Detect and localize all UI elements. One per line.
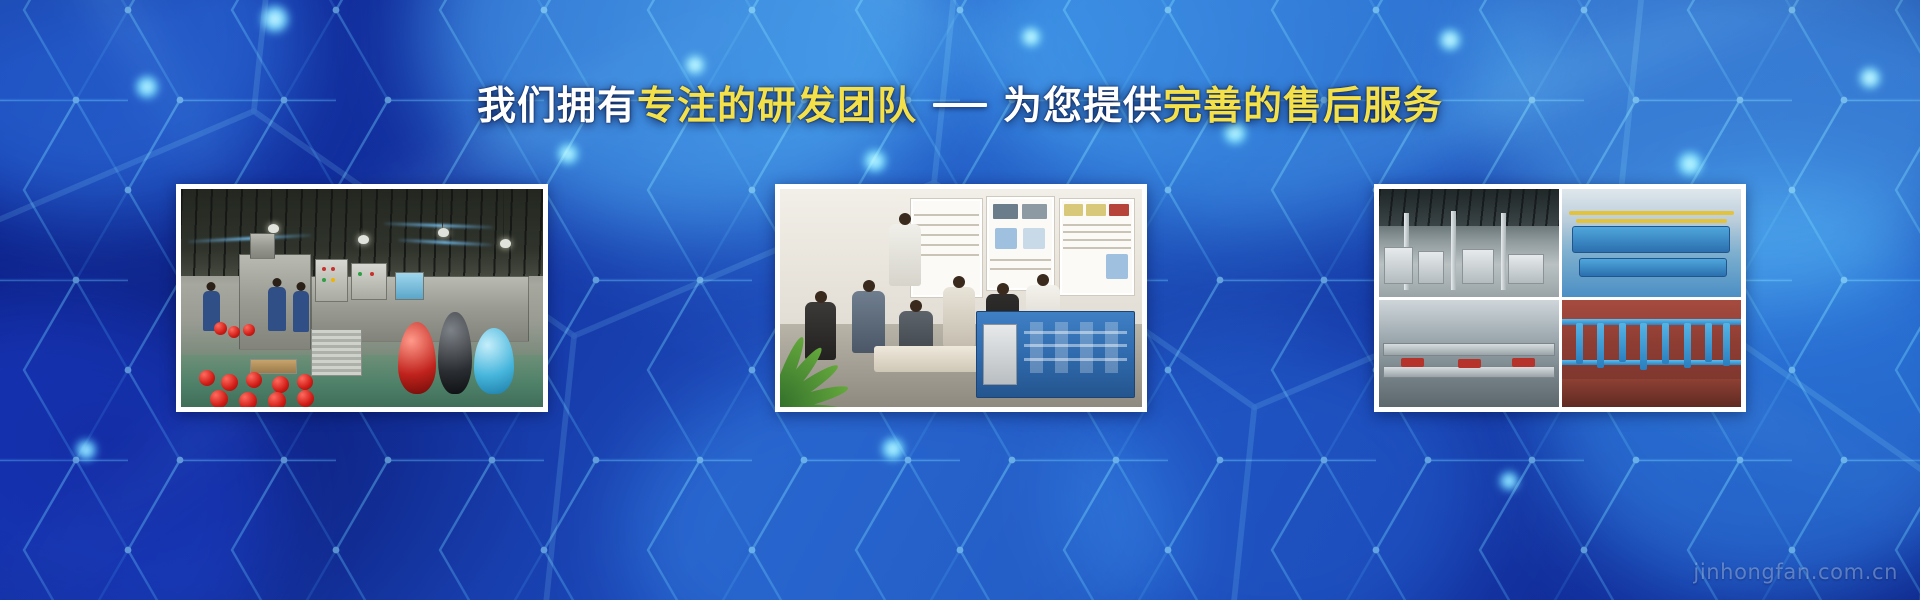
red-sphere-9 xyxy=(210,390,228,407)
collage-cell-hanging-line xyxy=(1562,300,1742,408)
ceiling-lamp-3 xyxy=(438,228,449,237)
yellow-pipe-2 xyxy=(1576,219,1727,223)
red-trolley-1 xyxy=(1401,358,1424,368)
blue-hanger-4 xyxy=(1640,323,1647,370)
red-sphere-1 xyxy=(214,322,227,335)
duct-stack xyxy=(250,233,275,259)
blue-duct-lower xyxy=(1579,258,1726,277)
blue-hanger-5 xyxy=(1662,323,1669,364)
site-watermark: jinhongfan.com.cn xyxy=(1693,560,1898,584)
potted-plant xyxy=(780,311,883,407)
lamp-wire-1 xyxy=(272,189,273,226)
wall-poster-1 xyxy=(910,198,982,298)
red-sphere-10 xyxy=(239,392,257,407)
white-tank-3 xyxy=(1462,249,1494,283)
ceiling-lamp-2 xyxy=(358,235,369,244)
control-panel-2 xyxy=(351,263,387,300)
storage-crate xyxy=(311,329,362,377)
white-tank-4 xyxy=(1508,254,1544,284)
blue-hanger-7 xyxy=(1705,323,1712,362)
blue-equipment-inset xyxy=(976,311,1135,398)
red-sphere-3 xyxy=(243,324,255,336)
wall-poster-3 xyxy=(1059,198,1135,296)
red-sphere-12 xyxy=(297,390,314,407)
worker-3 xyxy=(293,291,309,332)
workshop-ground xyxy=(1562,379,1742,407)
blue-hanger-2 xyxy=(1597,323,1604,368)
collage-cell-workshop-interior xyxy=(1379,189,1559,297)
photo-frame-factory-production-line[interactable] xyxy=(176,184,548,412)
conveyor-rail-upper xyxy=(1383,343,1555,357)
headline-part-2-highlight: 专注的研发团队 xyxy=(637,85,917,128)
photo-frame-team-meeting[interactable] xyxy=(775,184,1147,412)
blue-hanger-8 xyxy=(1723,323,1730,366)
red-trolley-3 xyxy=(1512,358,1535,368)
headline-part-3: 为您提供 xyxy=(1003,85,1163,128)
lamp-wire-4 xyxy=(503,189,504,241)
blue-hanger-3 xyxy=(1619,323,1626,362)
worker-2 xyxy=(268,287,286,331)
ceiling-lamp-1 xyxy=(268,224,279,233)
headline-part-4-highlight: 完善的售后服务 xyxy=(1163,85,1443,128)
headline-divider-dash xyxy=(933,103,987,107)
control-panel-1 xyxy=(315,259,348,303)
red-sphere-11 xyxy=(268,392,286,407)
blue-hanger-1 xyxy=(1576,323,1583,364)
support-column-3 xyxy=(1501,213,1506,290)
person-seated-4 xyxy=(943,287,975,347)
blue-duct-main xyxy=(1572,226,1730,254)
headline-part-1: 我们拥有 xyxy=(477,85,637,128)
support-column-2 xyxy=(1451,211,1456,291)
display-screen xyxy=(395,272,424,300)
photo-2-team-meeting-discussion xyxy=(780,189,1142,407)
photo-gallery-row xyxy=(176,184,1746,412)
collage-cell-blue-ducting xyxy=(1562,189,1742,297)
page-title: 我们拥有专注的研发团队为您提供完善的售后服务 xyxy=(0,84,1920,130)
white-tank-2 xyxy=(1418,251,1443,283)
photo-1-factory-production-line xyxy=(181,189,543,407)
red-trolley-2 xyxy=(1458,359,1481,369)
lamp-wire-2 xyxy=(362,189,363,237)
lamp-wire-3 xyxy=(442,189,443,230)
promo-banner: 我们拥有专注的研发团队为您提供完善的售后服务 xyxy=(0,0,1920,600)
blue-hanger-6 xyxy=(1684,323,1691,368)
red-sphere-4 xyxy=(199,370,215,386)
red-sphere-5 xyxy=(221,374,238,391)
photo-3-equipment-collage xyxy=(1379,189,1741,407)
overhead-rail xyxy=(1562,319,1742,325)
white-tank-1 xyxy=(1384,247,1413,284)
overhead-rail-2 xyxy=(1562,360,1742,365)
person-standing-presenter xyxy=(889,224,921,286)
yellow-pipe-1 xyxy=(1569,211,1734,215)
ceiling-lamp-4 xyxy=(500,239,511,248)
photo-frame-equipment-collage[interactable] xyxy=(1374,184,1746,412)
red-sphere-7 xyxy=(272,376,289,393)
collage-cell-conveyor-rail xyxy=(1379,300,1559,408)
